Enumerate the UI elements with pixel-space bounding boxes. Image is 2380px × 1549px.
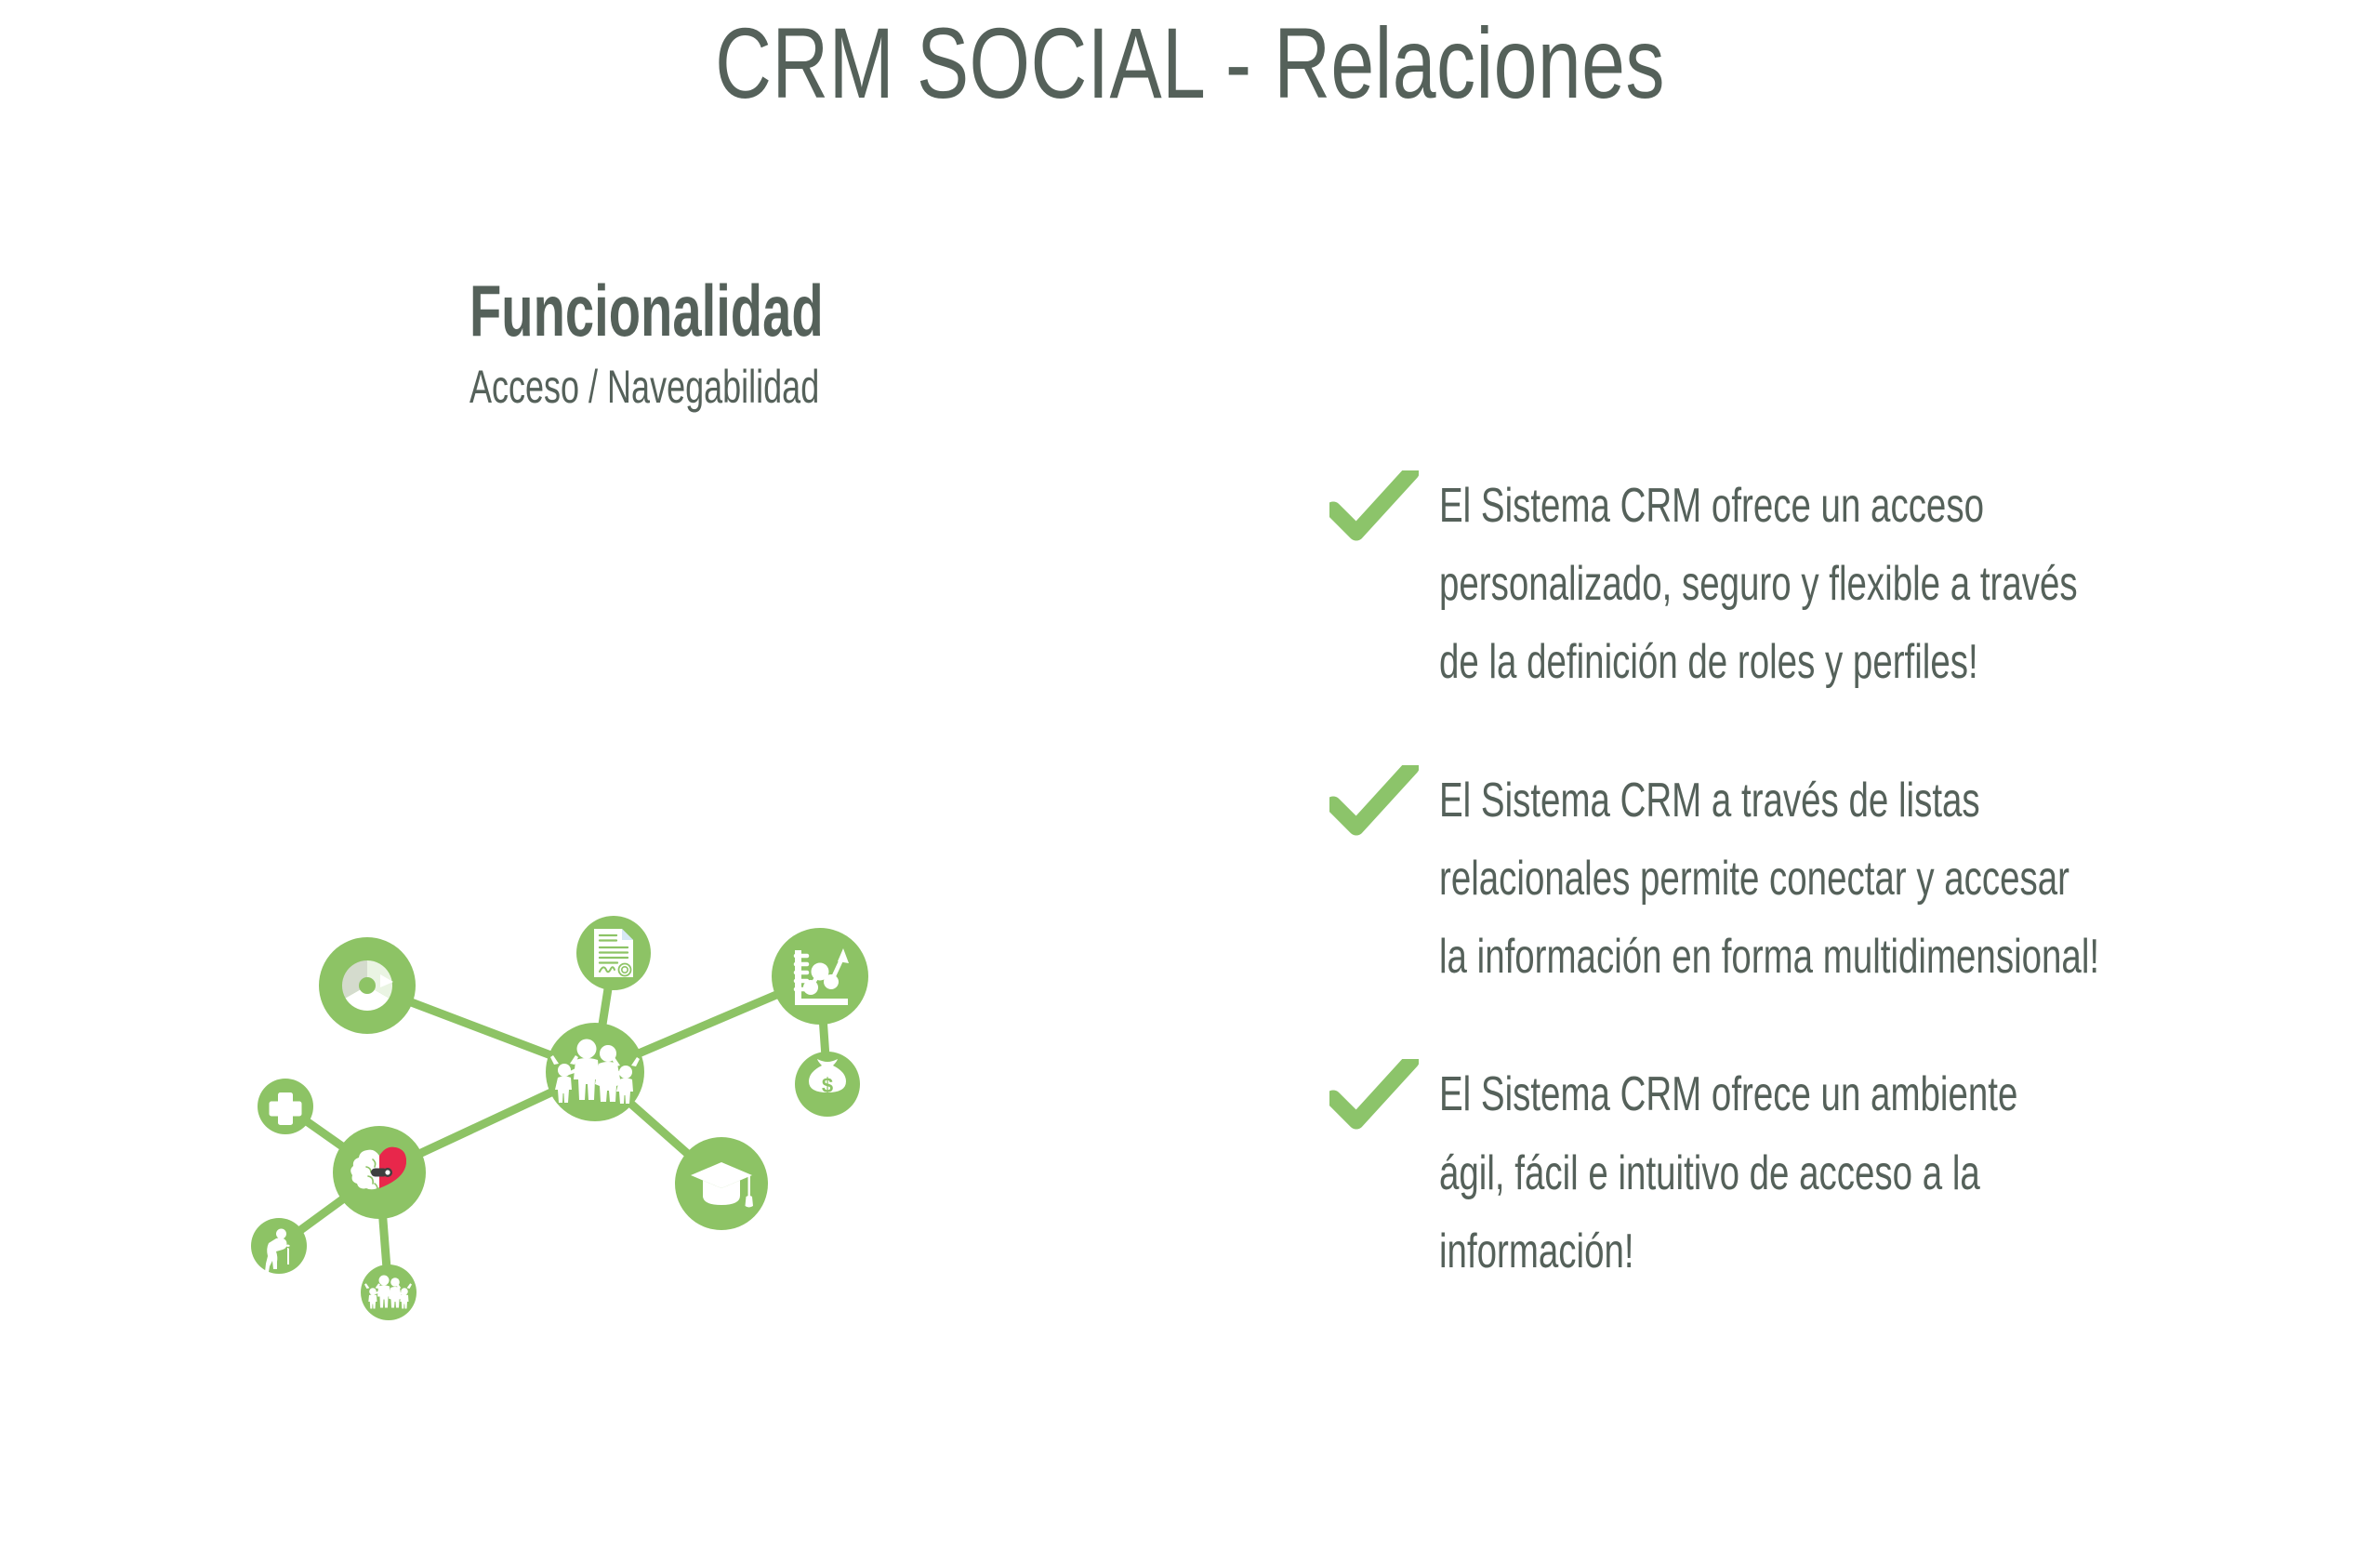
node-money[interactable]: $ [795,1052,860,1117]
section-heading: Funcionalidad [469,274,824,347]
list-item-text: El Sistema CRM a través de listas relaci… [1439,760,2108,997]
check-icon [1329,760,1439,854]
slide-canvas: CRM SOCIAL - Relaciones Funcionalidad Ac… [0,0,2380,1549]
benefits-list: El Sistema CRM ofrece un acceso personal… [1329,465,2343,1348]
bullet-line: la información en forma multidimensional… [1439,918,2108,996]
section-heading-block: Funcionalidad Acceso / Navegabilidad [469,274,961,410]
node-line-chart[interactable] [772,928,868,1025]
svg-text:$: $ [822,1074,833,1097]
node-pie-chart[interactable] [319,937,416,1034]
node-health[interactable] [258,1079,313,1134]
document-signed-icon [594,929,633,977]
section-subheading: Acceso / Navegabilidad [469,364,824,410]
list-item-text: El Sistema CRM ofrece un ambiente ágil, … [1439,1053,2108,1291]
bullet-line: información! [1439,1212,2108,1291]
node-small-family[interactable] [361,1264,416,1320]
bullet-line: El Sistema CRM ofrece un ambiente [1439,1055,2108,1133]
page-title: CRM SOCIAL - Relaciones [262,7,2119,120]
network-diagram: $ [139,558,1274,1302]
node-elderly[interactable] [251,1218,307,1274]
bullet-line: personalizado, seguro y flexible a travé… [1439,545,2108,623]
bullet-line: relacionales permite conectar y accesar [1439,840,2108,918]
list-item: El Sistema CRM ofrece un ambiente ágil, … [1329,1053,2343,1291]
node-document[interactable] [576,916,651,990]
node-mind-heart[interactable] [333,1126,426,1219]
bullet-line: ágil, fácil e intuitivo de acceso a la [1439,1134,2108,1212]
list-item: El Sistema CRM ofrece un acceso personal… [1329,465,2343,702]
node-education[interactable] [675,1137,768,1230]
check-icon [1329,1053,1439,1148]
list-item: El Sistema CRM a través de listas relaci… [1329,760,2343,997]
check-icon [1329,465,1439,560]
node-family-hub[interactable] [546,1023,644,1121]
list-item-text: El Sistema CRM ofrece un acceso personal… [1439,465,2108,702]
bullet-line: El Sistema CRM a través de listas [1439,761,2108,840]
bullet-line: de la definición de roles y perfiles! [1439,623,2108,701]
bullet-line: El Sistema CRM ofrece un acceso [1439,467,2108,545]
